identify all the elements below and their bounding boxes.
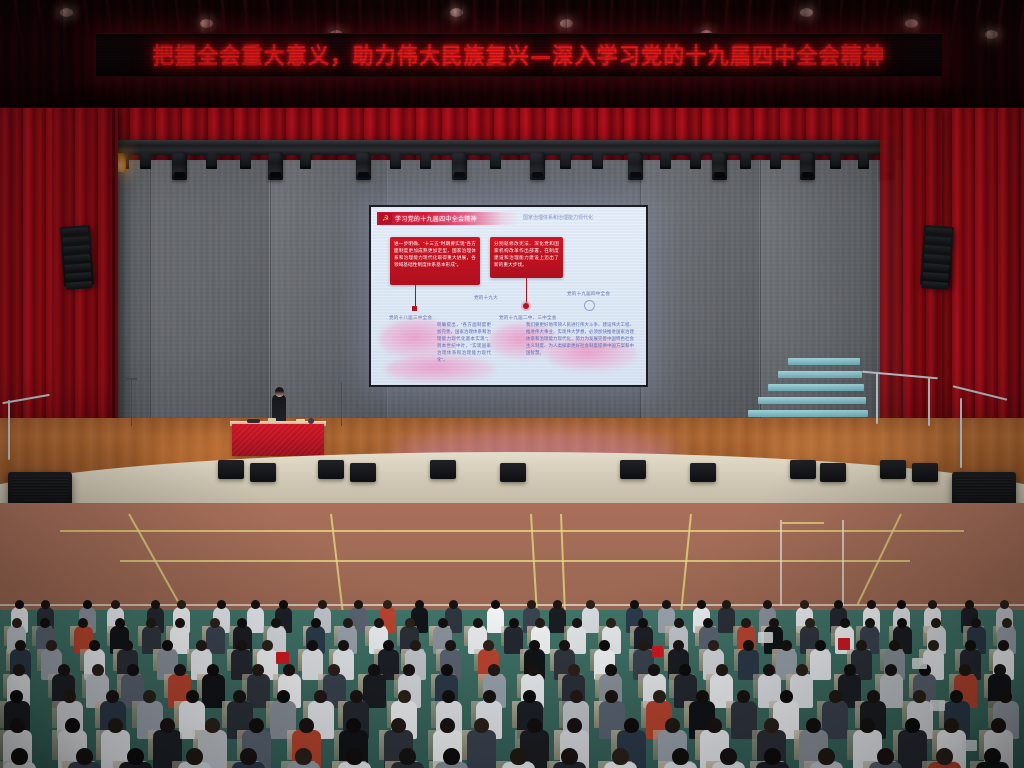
audience-person-head: [674, 618, 684, 628]
audience-person-head: [46, 640, 57, 651]
audience-person-head: [510, 748, 527, 765]
audience-person-head: [346, 718, 361, 733]
audience-person-head: [354, 600, 363, 609]
moving-head-light: [712, 152, 727, 180]
auditorium-scene: 把握全会重大意义，助力伟大民族复兴—深入学习党的十九届四中全会精神 ☭ 学习党的…: [0, 0, 1024, 768]
slide-header-subtitle: 国家治理体系和治理能力现代化: [523, 214, 593, 221]
moving-head-light: [356, 152, 371, 180]
slide-callout-right: 分别就修改宪法、深化党和国家机构改革作出部署，在制度建设和治理能力建设上迈出了新…: [490, 237, 563, 278]
lighting-truss: [0, 140, 1024, 150]
stage-floor-monitor: [218, 460, 244, 479]
audience-person-head: [10, 718, 25, 733]
audience-person-head: [314, 690, 327, 703]
table-item-cup: [296, 419, 305, 423]
audience-person-head: [89, 640, 100, 651]
audience-person-head: [175, 618, 185, 628]
led-banner-text: 把握全会重大意义，助力伟大民族复兴—深入学习党的十九届四中全会精神: [153, 39, 886, 71]
audience-person-head: [318, 600, 327, 609]
par-can-light: [420, 152, 431, 169]
audience-person-head: [249, 718, 264, 733]
audience-person-head: [561, 748, 578, 765]
audience-person-head: [196, 640, 207, 651]
stage-floor-monitor: [500, 463, 526, 482]
audience-person-head: [1000, 600, 1009, 609]
audience-person-head: [12, 618, 22, 628]
moving-head-light: [800, 152, 815, 180]
audience-person-head: [599, 640, 610, 651]
audience-shirt-print: [758, 632, 773, 643]
audience-person-head: [741, 618, 751, 628]
audience-person-head: [277, 690, 290, 703]
audience-person-head: [415, 600, 424, 609]
led-banner: 把握全会重大意义，助力伟大民族复兴—深入学习党的十九届四中全会精神: [96, 33, 942, 77]
audience-person-head: [205, 718, 220, 733]
audience-person-head: [800, 600, 809, 609]
audience-person-body: [467, 730, 496, 768]
audience-person-head: [696, 690, 709, 703]
bleacher-step: [788, 358, 860, 365]
audience-person-head: [399, 748, 416, 765]
par-can-light: [830, 152, 841, 169]
moving-head-light: [172, 152, 187, 180]
audience-person-head: [438, 618, 448, 628]
audience-person-head: [840, 618, 850, 628]
stage-floor-monitor: [318, 460, 344, 479]
audience-person-head: [65, 718, 80, 733]
audience-person-head: [398, 690, 411, 703]
audience-person-head: [92, 664, 104, 676]
lighting-truss-lower: [0, 150, 1024, 155]
audience-person-head: [307, 640, 318, 651]
audience-person-head: [527, 600, 536, 609]
audience-person-head: [368, 664, 380, 676]
audience-person-head: [965, 640, 976, 651]
audience-person-head: [445, 640, 456, 651]
stage-floor-monitor: [790, 460, 816, 479]
audience-person-head: [944, 718, 959, 733]
audience-person-head: [127, 664, 139, 676]
par-can-light: [592, 152, 603, 169]
audience-person-head: [630, 600, 639, 609]
presenter-head: [275, 387, 284, 397]
audience-person-head: [343, 618, 353, 628]
audience-person-head: [720, 748, 737, 765]
stage-floor-monitor: [350, 463, 376, 482]
presenter-table: [232, 424, 324, 456]
audience-red-flag: [838, 638, 850, 650]
court-line: [120, 560, 910, 562]
mic-stand-right: [341, 382, 342, 426]
slide-header-bar: ☭ 学习党的十九届四中全会精神: [377, 212, 519, 225]
audience-person-head: [106, 690, 119, 703]
audience-person-head: [764, 748, 781, 765]
audience-person-head: [984, 748, 1001, 765]
audience-person-head: [127, 748, 144, 765]
audience-person-head: [931, 618, 941, 628]
audience-person-head: [252, 664, 264, 676]
timeline-node-4-label: 党的十九届四中全会: [567, 291, 610, 297]
bleacher-rail-post: [928, 378, 930, 426]
audience-person-head: [10, 690, 23, 703]
audience-person-head: [897, 618, 907, 628]
audience-person-head: [283, 664, 295, 676]
slide-body-left: 明确提出，“各方面制度更加完善，国家治理体系和治理能力现代化基本实现”；到本世纪…: [437, 321, 491, 363]
audience-person-head: [115, 618, 125, 628]
audience-person-head: [174, 664, 186, 676]
mic-stand-left: [131, 380, 132, 426]
audience-shirt-print: [930, 700, 945, 711]
audience-person-head: [440, 718, 455, 733]
callout-right-leader-line: [526, 278, 527, 305]
audience-person-head: [1002, 618, 1012, 628]
bleacher-step: [768, 384, 864, 391]
audience-person-head: [806, 718, 821, 733]
audience-person-head: [860, 718, 875, 733]
audience-person-head: [346, 748, 363, 765]
court-line: [60, 530, 964, 532]
audience-person-head: [491, 600, 500, 609]
audience-person-head: [818, 748, 835, 765]
par-can-light: [740, 152, 751, 169]
audience-person-body: [810, 649, 831, 680]
audience-person-head: [928, 600, 937, 609]
audience-person-head: [865, 618, 875, 628]
audience-person-head: [311, 618, 321, 628]
court-line-small: [782, 522, 824, 524]
bleacher-step: [758, 397, 866, 404]
table-item-laptop: [247, 419, 260, 423]
audience-person-head: [665, 718, 680, 733]
stage-floor-monitor: [912, 463, 938, 482]
audience-person-head: [679, 664, 691, 676]
moving-head-light: [268, 152, 283, 180]
par-can-light: [690, 152, 701, 169]
bleacher-step: [778, 371, 862, 378]
par-can-light: [490, 152, 501, 169]
stair-rail-post: [960, 398, 962, 468]
audience-person-head: [722, 600, 731, 609]
audience-person-head: [672, 748, 689, 765]
stage-floor-monitor: [620, 460, 646, 479]
par-can-light: [560, 152, 571, 169]
projection-screen-frame: ☭ 学习党的十九届四中全会精神 国家治理体系和治理能力现代化 进一步明确、“十三…: [369, 205, 648, 387]
audience-person-head: [697, 600, 706, 609]
audience-person-head: [559, 640, 570, 651]
audience-person-head: [523, 690, 536, 703]
audience-person-head: [160, 718, 175, 733]
court-line-white: [842, 520, 844, 606]
audience-person-head: [383, 600, 392, 609]
audience-person-head: [236, 640, 247, 651]
bleacher-step: [748, 410, 868, 417]
line-array-speaker-right: [920, 225, 954, 287]
audience-person-head: [999, 690, 1012, 703]
audience-person-head: [796, 664, 808, 676]
table-item-mic-base: [308, 418, 314, 424]
audience-person-head: [383, 640, 394, 651]
audience-person-head: [13, 664, 25, 676]
audience-person-head: [781, 640, 792, 651]
audience-person-head: [338, 640, 349, 651]
audience-person-head: [473, 618, 483, 628]
timeline-node-4-marker: [584, 300, 595, 311]
audience-person-head: [151, 600, 160, 609]
audience-person-head: [391, 718, 406, 733]
audience-person-head: [405, 618, 415, 628]
line-array-speaker-left: [60, 225, 94, 287]
audience-person-head: [240, 748, 257, 765]
audience-shirt-print: [912, 658, 927, 669]
audience-person-head: [527, 664, 539, 676]
audience-person-head: [488, 664, 500, 676]
audience-person-head: [410, 640, 421, 651]
audience-person-head: [299, 718, 314, 733]
audience-person-head: [905, 718, 920, 733]
slide-body-right: 我们要更好地带领人民进行伟大斗争、建设伟大工程、推进伟大事业、实现伟大梦想，必须…: [526, 321, 634, 356]
audience-person-head: [271, 618, 281, 628]
bleacher-rail-post: [876, 372, 878, 424]
audience-person-head: [449, 600, 458, 609]
audience-person-head: [612, 748, 629, 765]
audience-person-head: [913, 690, 926, 703]
audience-person-head: [295, 748, 312, 765]
audience-person-head: [897, 600, 906, 609]
audience-person-head: [76, 748, 93, 765]
audience-person-head: [374, 618, 384, 628]
audience-person-head: [994, 664, 1006, 676]
audience-person-head: [965, 600, 974, 609]
audience-person-head: [815, 640, 826, 651]
slide-header-title: 学习党的十九届四中全会精神: [395, 214, 477, 223]
audience-person-head: [737, 690, 750, 703]
audience-person-head: [834, 600, 843, 609]
audience-person-head: [350, 690, 363, 703]
audience-person-head: [527, 718, 542, 733]
audience-person-head: [568, 664, 580, 676]
audience-person-head: [950, 690, 963, 703]
audience-person-head: [207, 664, 219, 676]
audience-person-head: [889, 640, 900, 651]
audience-person-head: [483, 690, 496, 703]
audience-person-head: [763, 600, 772, 609]
audience-person-head: [237, 618, 247, 628]
moving-head-light: [628, 152, 643, 180]
audience-person-head: [15, 600, 24, 609]
par-can-light: [770, 152, 781, 169]
audience-person-head: [143, 690, 156, 703]
audience-person-head: [769, 618, 779, 628]
audience-person-head: [442, 690, 455, 703]
par-can-light: [300, 152, 311, 169]
audience-person-head: [743, 640, 754, 651]
moving-head-light: [530, 152, 545, 180]
audience-person-head: [108, 718, 123, 733]
audience-person-head: [805, 618, 815, 628]
audience-person-head: [570, 690, 583, 703]
audience-person-head: [829, 690, 842, 703]
audience-person-head: [648, 664, 660, 676]
stage-floor-monitor: [690, 463, 716, 482]
timeline-node-1-marker: [412, 306, 417, 311]
par-can-light: [660, 152, 671, 169]
audience-person-head: [217, 600, 226, 609]
audience-person-head: [11, 748, 28, 765]
stage-floor-monitor: [880, 460, 906, 479]
par-can-light: [390, 152, 401, 169]
stage-floor-monitor: [820, 463, 846, 482]
par-can-light: [140, 152, 151, 169]
timeline-node-2-label: 党的十九大: [474, 295, 498, 301]
slide-body-left-text: 明确提出，“各方面制度更加完善，国家治理体系和治理能力现代化基本实现”；到本世纪…: [437, 321, 491, 363]
audience-person-head: [40, 618, 50, 628]
stage-floor-monitor: [430, 460, 456, 479]
audience-person-head: [877, 748, 894, 765]
audience-person-head: [474, 718, 489, 733]
audience-person-head: [186, 690, 199, 703]
audience-person-head: [111, 600, 120, 609]
slide-callout-left-text: 进一步明确、“十三五”时期要实现“各方面制度更加成熟更加定型，国家治理体系和治理…: [394, 240, 476, 268]
audience-person-head: [653, 690, 666, 703]
audience-shirt-print: [180, 728, 195, 739]
audience-shirt-print: [962, 740, 977, 751]
audience-person-body: [549, 607, 566, 633]
audience-person-head: [716, 664, 728, 676]
audience-person-head: [441, 664, 453, 676]
audience-person-head: [928, 640, 939, 651]
court-line-white: [780, 520, 782, 606]
audience-person-head: [509, 618, 519, 628]
timeline-node-3-marker: [523, 303, 529, 309]
audience-person-head: [780, 690, 793, 703]
audience-person-head: [553, 600, 562, 609]
slide-body-right-text: 我们要更好地带领人民进行伟大斗争、建设伟大工程、推进伟大事业、实现伟大梦想，必须…: [526, 321, 634, 356]
par-can-light: [206, 152, 217, 169]
audience-person-head: [885, 664, 897, 676]
audience-person-head: [443, 748, 460, 765]
audience-person-head: [662, 600, 671, 609]
audience-person-head: [83, 600, 92, 609]
audience-person-head: [605, 664, 617, 676]
audience-person-head: [856, 640, 867, 651]
slide-callout-right-text: 分别就修改宪法、深化党和国家机构改革作出部署，在制度建设和治理能力建设上迈出了新…: [494, 240, 559, 268]
audience-red-flag: [276, 652, 289, 664]
stage-floor-monitor: [250, 463, 276, 482]
moving-head-light: [452, 152, 467, 180]
audience-person-head: [122, 640, 133, 651]
audience-person-head: [971, 618, 981, 628]
audience-person-head: [529, 640, 540, 651]
audience-person-head: [177, 600, 186, 609]
audience-person-head: [763, 664, 775, 676]
audience-person-head: [58, 664, 70, 676]
audience-person-head: [991, 718, 1006, 733]
par-can-light: [240, 152, 251, 169]
audience-person-head: [844, 664, 856, 676]
audience-person-head: [146, 618, 156, 628]
callout-left-leader-line: [415, 285, 416, 307]
audience-person-head: [764, 718, 779, 733]
audience-person-head: [210, 618, 220, 628]
stair-rail-post-left: [8, 400, 10, 460]
mic-stand-left-boom: [126, 378, 137, 380]
audience-person-head: [959, 664, 971, 676]
audience-person-head: [78, 618, 88, 628]
audience-person-head: [483, 640, 494, 651]
audience-person-head: [708, 640, 719, 651]
audience-person-head: [605, 690, 618, 703]
par-can-light: [858, 152, 869, 169]
projection-screen: ☭ 学习党的十九届四中全会精神 国家治理体系和治理能力现代化 进一步明确、“十三…: [371, 207, 646, 385]
audience-person-head: [936, 748, 953, 765]
audience-person-head: [251, 600, 260, 609]
audience-person-head: [328, 664, 340, 676]
audience-person-head: [867, 690, 880, 703]
audience-red-flag: [652, 646, 663, 657]
audience-person-head: [624, 718, 639, 733]
party-emblem-icon: ☭: [379, 213, 392, 224]
audience-person-head: [998, 640, 1009, 651]
audience-person-head: [186, 748, 203, 765]
audience-person-head: [233, 690, 246, 703]
audience-person-head: [63, 690, 76, 703]
audience-person-head: [572, 618, 582, 628]
table-item-paper: [268, 418, 276, 423]
slide-callout-left: 进一步明确、“十三五”时期要实现“各方面制度更加成熟更加定型，国家治理体系和治理…: [390, 237, 480, 285]
audience-person-head: [707, 718, 722, 733]
audience-person-head: [567, 718, 582, 733]
